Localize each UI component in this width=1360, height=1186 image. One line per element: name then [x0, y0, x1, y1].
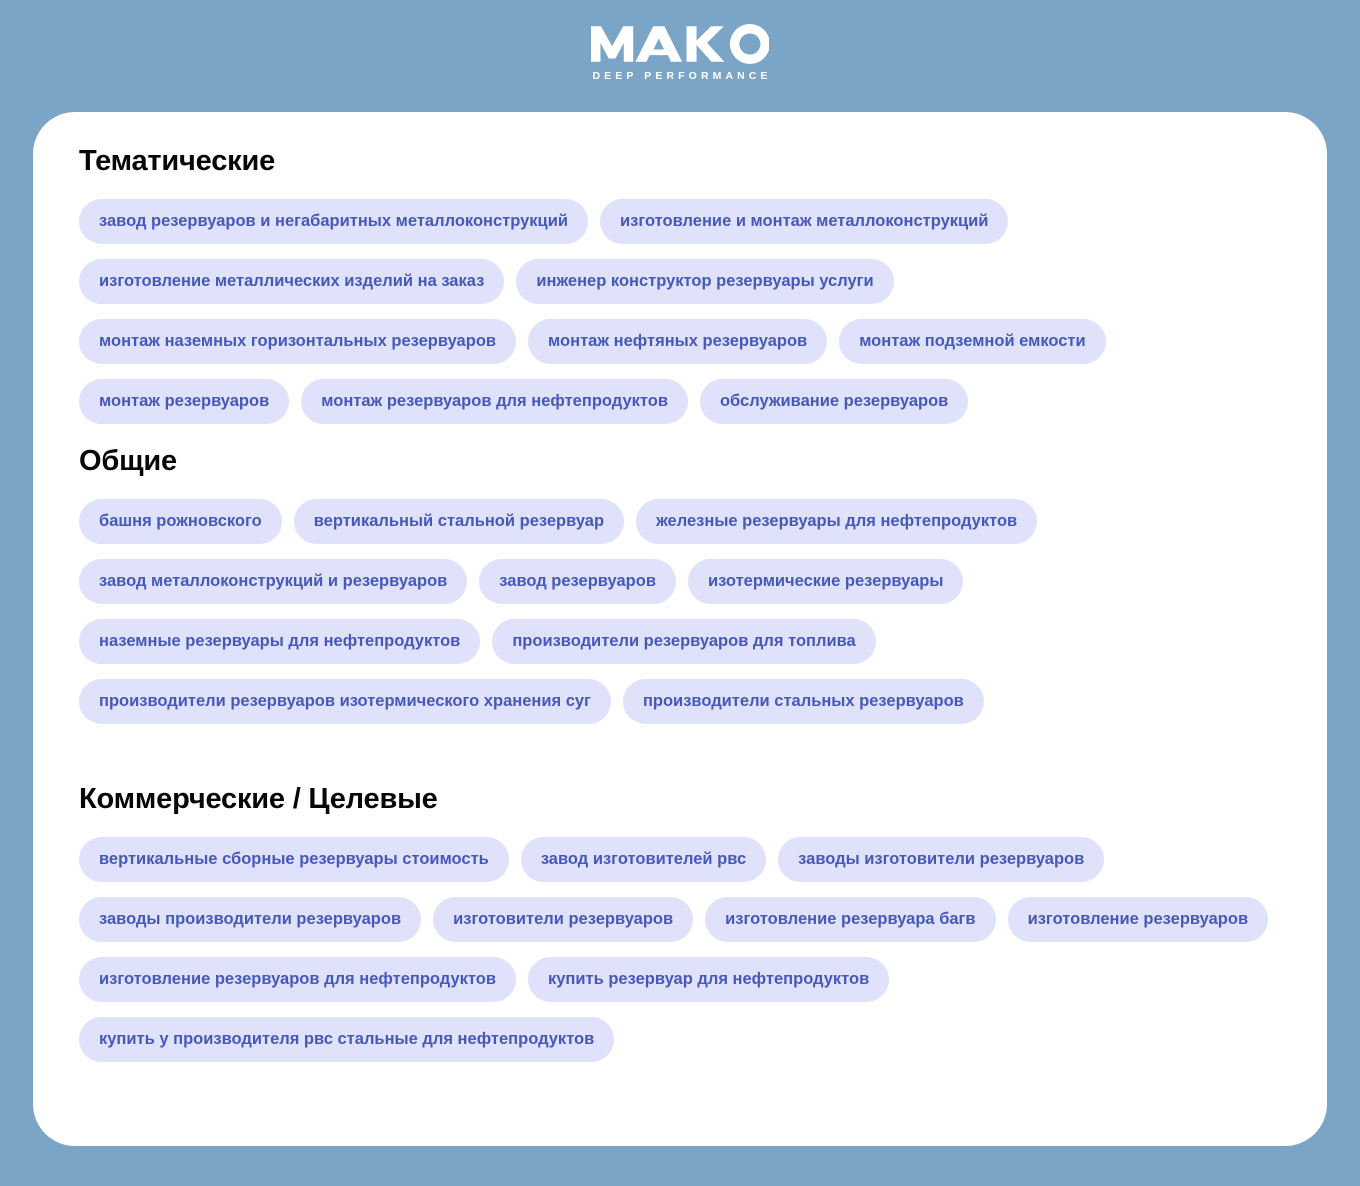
keyword-chip[interactable]: производители стальных резервуаров	[623, 679, 984, 724]
keyword-chip[interactable]: вертикальный стальной резервуар	[294, 499, 624, 544]
section-general: Общие башня рожновского вертикальный ста…	[79, 446, 1281, 724]
keyword-chip[interactable]: железные резервуары для нефтепродуктов	[636, 499, 1037, 544]
keyword-chip[interactable]: монтаж резервуаров	[79, 379, 289, 424]
keyword-chip[interactable]: изготовление металлических изделий на за…	[79, 259, 504, 304]
section-title: Общие	[79, 446, 1281, 478]
keyword-chip[interactable]: заводы изготовители резервуаров	[778, 837, 1104, 882]
keyword-chip[interactable]: изотермические резервуары	[688, 559, 963, 604]
keyword-chip[interactable]: монтаж резервуаров для нефтепродуктов	[301, 379, 688, 424]
section-commercial: Коммерческие / Целевые вертикальные сбор…	[79, 784, 1281, 1062]
section-title: Тематические	[79, 146, 1281, 178]
mako-logo-icon	[591, 24, 769, 64]
brand-header: DEEP PERFORMANCE	[0, 0, 1360, 112]
keyword-chip[interactable]: башня рожновского	[79, 499, 282, 544]
keyword-chip[interactable]: изготовление резервуара багв	[705, 897, 995, 942]
keyword-chip[interactable]: завод изготовителей рвс	[521, 837, 766, 882]
section-title: Коммерческие / Целевые	[79, 784, 1281, 816]
keyword-chip[interactable]: изготовление резервуаров для нефтепродук…	[79, 957, 516, 1002]
keyword-chip[interactable]: завод металлоконструкций и резервуаров	[79, 559, 467, 604]
keyword-groups-card: Тематические завод резервуаров и негабар…	[33, 112, 1327, 1146]
keyword-chip[interactable]: монтаж нефтяных резервуаров	[528, 319, 827, 364]
keyword-chip[interactable]: завод резервуаров	[479, 559, 676, 604]
keyword-chip[interactable]: наземные резервуары для нефтепродуктов	[79, 619, 480, 664]
keyword-chip[interactable]: монтаж наземных горизонтальных резервуар…	[79, 319, 516, 364]
section-thematic: Тематические завод резервуаров и негабар…	[79, 146, 1281, 424]
keyword-chip[interactable]: изготовление резервуаров	[1008, 897, 1269, 942]
keyword-chip[interactable]: инженер конструктор резервуары услуги	[516, 259, 893, 304]
keyword-chip[interactable]: заводы производители резервуаров	[79, 897, 421, 942]
keyword-chip[interactable]: изготовители резервуаров	[433, 897, 693, 942]
keyword-chip[interactable]: купить резервуар для нефтепродуктов	[528, 957, 889, 1002]
keyword-chip[interactable]: купить у производителя рвс стальные для …	[79, 1017, 614, 1062]
keyword-chip[interactable]: изготовление и монтаж металлоконструкций	[600, 199, 1008, 244]
chip-group-general: башня рожновского вертикальный стальной …	[79, 499, 1281, 724]
keyword-chip[interactable]: вертикальные сборные резервуары стоимост…	[79, 837, 509, 882]
keyword-chip[interactable]: производители резервуаров изотермическог…	[79, 679, 611, 724]
chip-group-commercial: вертикальные сборные резервуары стоимост…	[79, 837, 1281, 1062]
chip-group-thematic: завод резервуаров и негабаритных металло…	[79, 199, 1281, 424]
keyword-chip[interactable]: обслуживание резервуаров	[700, 379, 968, 424]
keyword-chip[interactable]: завод резервуаров и негабаритных металло…	[79, 199, 588, 244]
keyword-chip[interactable]: производители резервуаров для топлива	[492, 619, 875, 664]
keyword-chip[interactable]: монтаж подземной емкости	[839, 319, 1105, 364]
brand-tagline: DEEP PERFORMANCE	[588, 71, 771, 82]
